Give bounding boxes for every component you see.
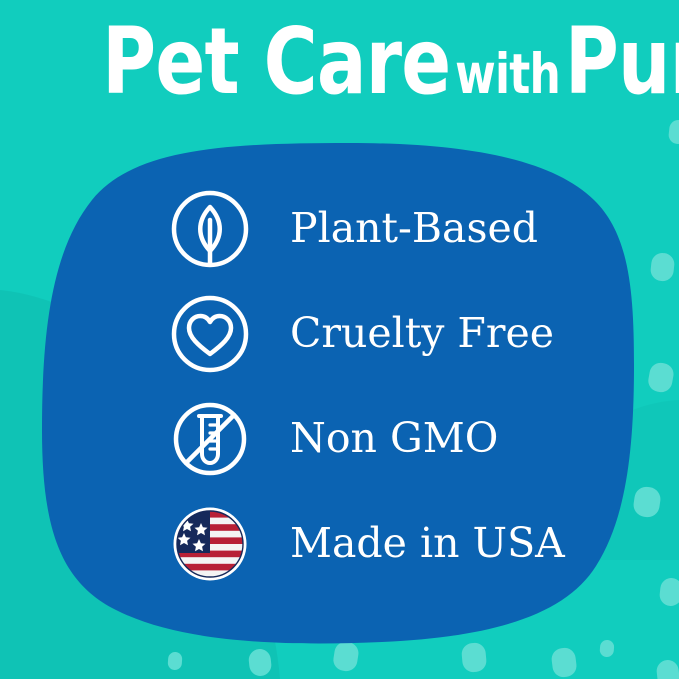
feature-label-made-in-usa: Made in USA: [290, 523, 565, 564]
feature-label-non-gmo: Non GMO: [290, 418, 498, 459]
feature-row-non-gmo: Non GMO: [168, 386, 588, 491]
feature-row-made-in-usa: Made in USA: [168, 491, 588, 596]
no-test-tube-icon: [168, 397, 252, 481]
feature-row-plant-based: Plant-Based: [168, 176, 588, 281]
usa-flag-circle-icon: [168, 502, 252, 586]
feature-list: Plant-Based Cruelty Free: [168, 176, 588, 596]
feature-label-plant-based: Plant-Based: [290, 208, 538, 249]
feature-row-cruelty-free: Cruelty Free: [168, 281, 588, 386]
heart-in-circle-icon: [168, 292, 252, 376]
feature-label-cruelty-free: Cruelty Free: [290, 313, 554, 354]
leaf-in-circle-icon: [168, 187, 252, 271]
pet-care-with-purpose-poster: Pet CarewithPurpose® Plant-Based: [0, 0, 679, 679]
